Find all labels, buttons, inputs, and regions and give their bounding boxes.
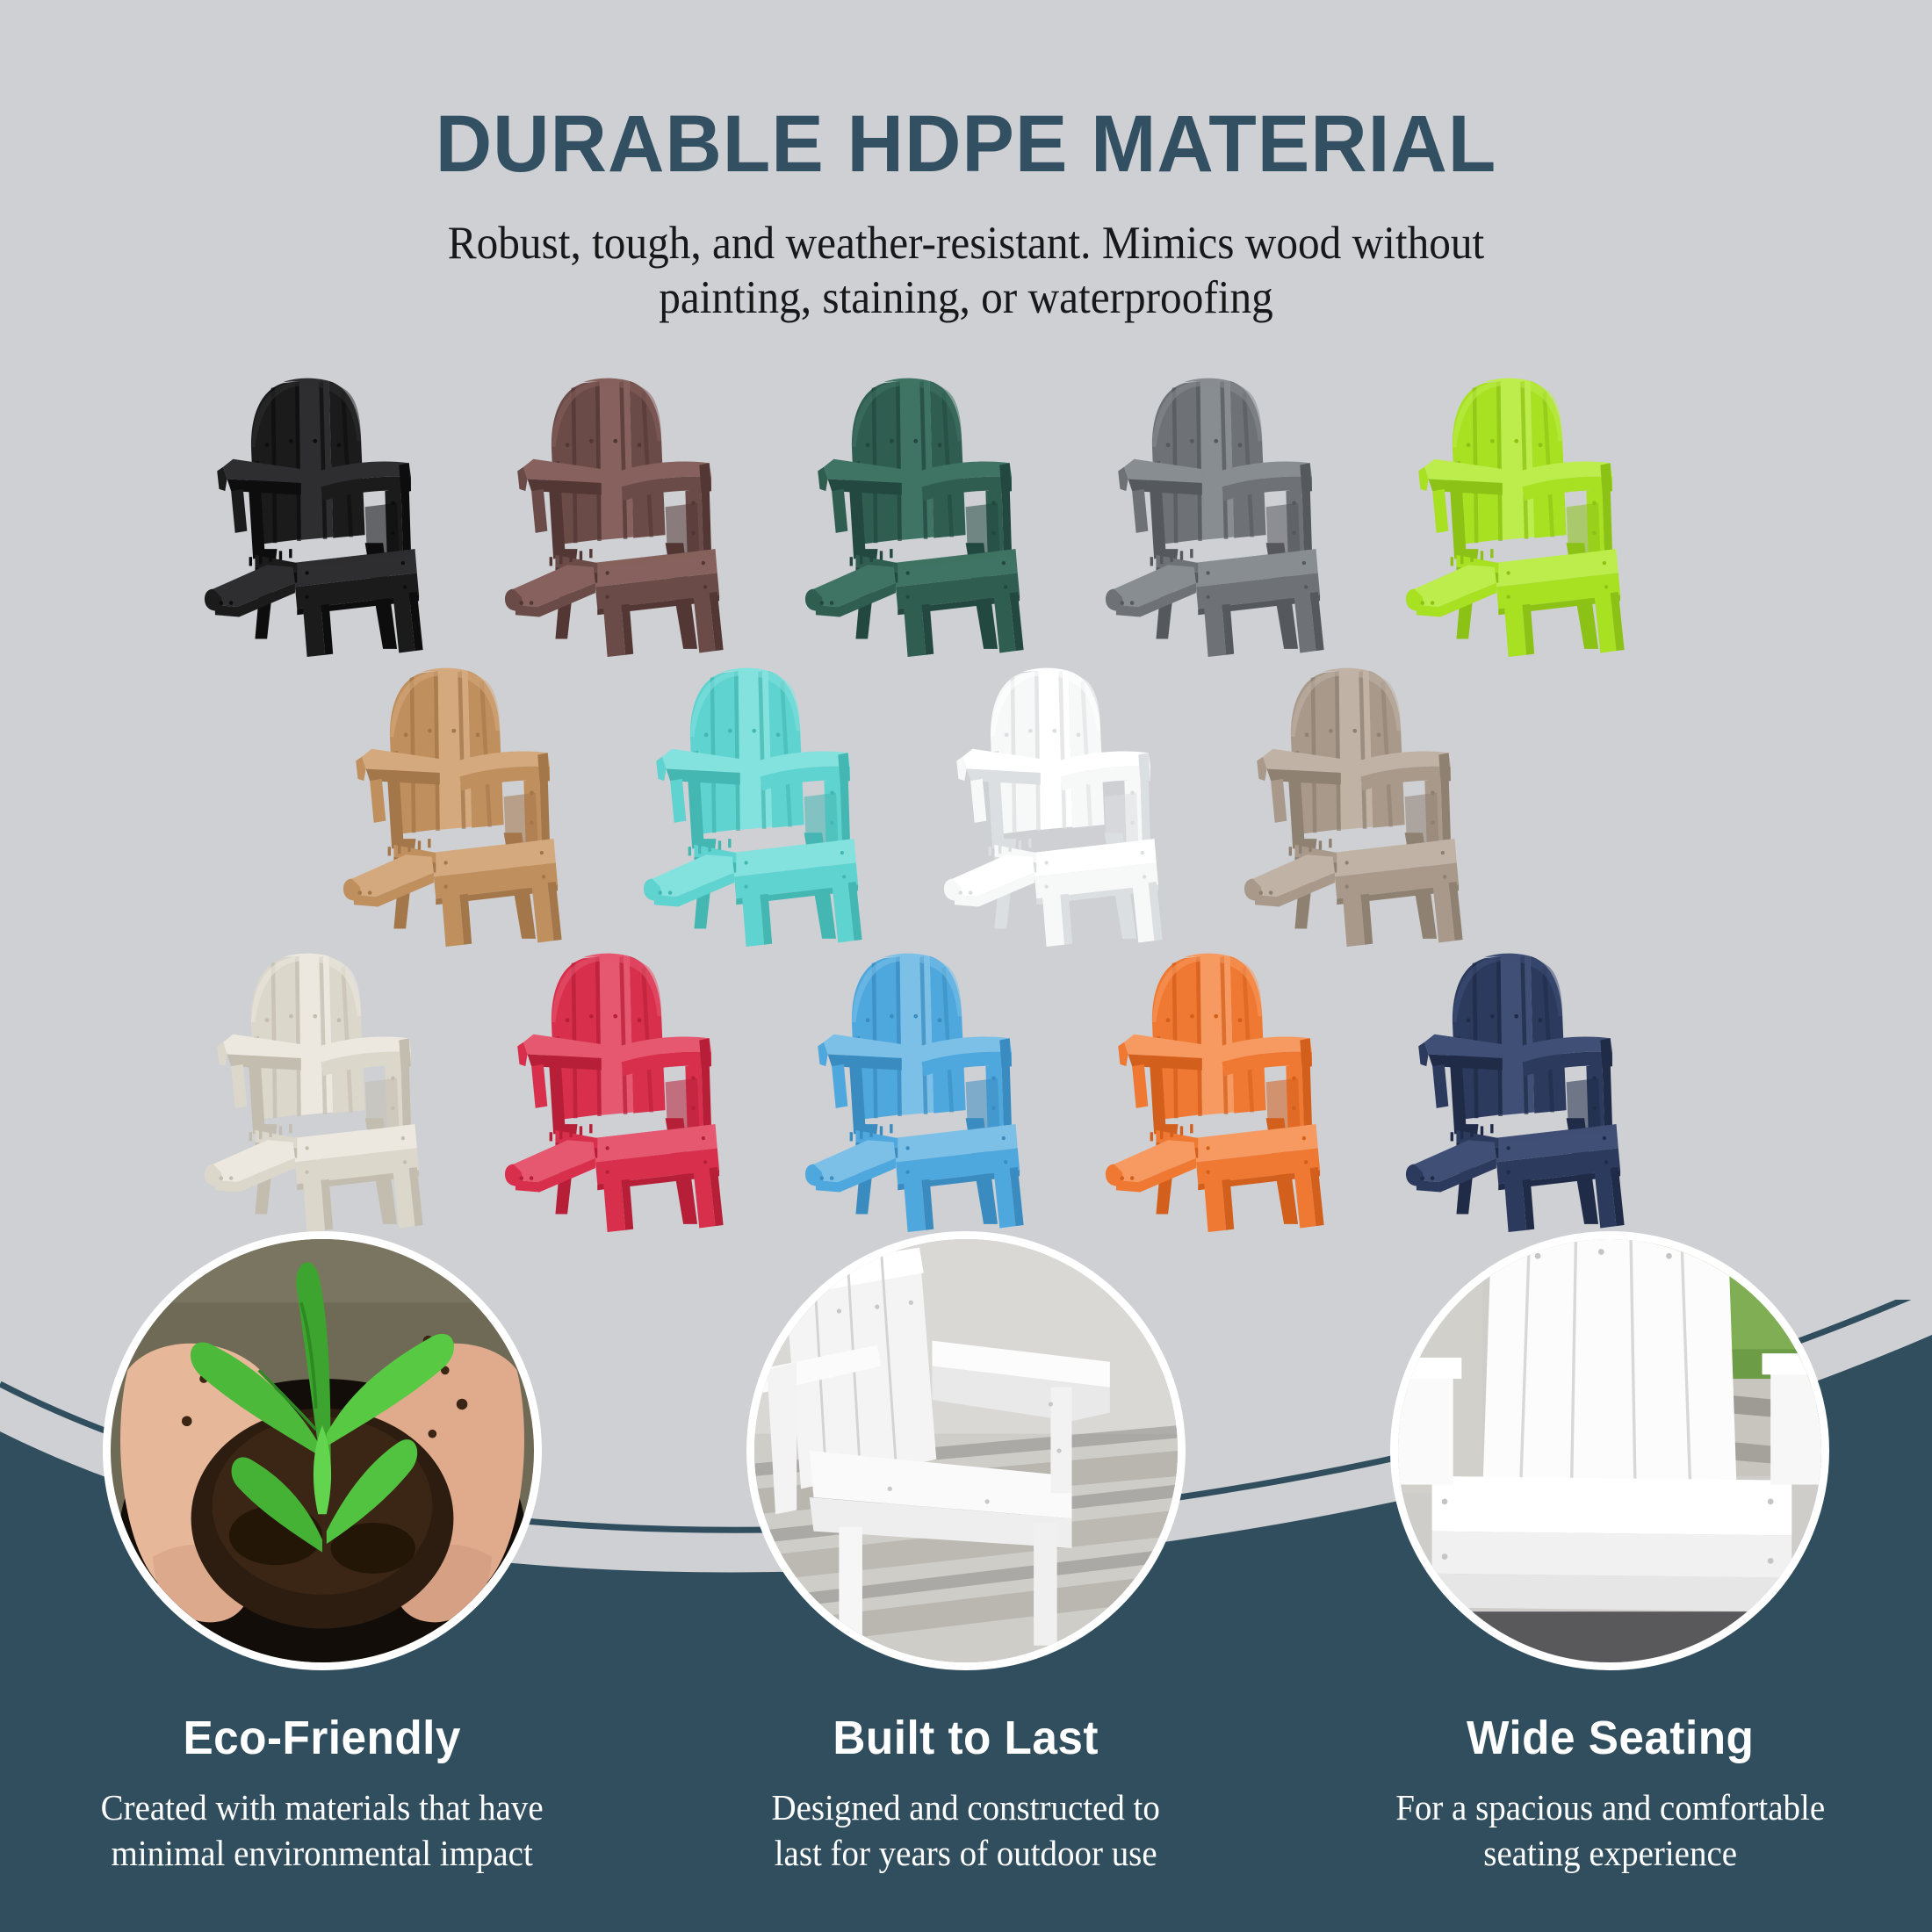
subtitle-line-1: Robust, tough, and weather-resistant. Mi…	[68, 216, 1864, 271]
chair-swatch-teak[interactable]	[306, 657, 606, 947]
chair-color-grid	[0, 367, 1932, 1298]
adirondack-chair-icon	[1207, 657, 1507, 947]
feature-wide-seating: Wide Seating For a spacious and comforta…	[1288, 1177, 1932, 1932]
adirondack-chair-icon	[1368, 367, 1669, 657]
chair-row-1	[0, 367, 1932, 657]
page-title: DURABLE HDPE MATERIAL	[29, 104, 1903, 186]
feature-desc-line-2: last for years of outdoor use	[703, 1830, 1229, 1876]
feature-desc-line-1: Created with materials that have	[60, 1784, 585, 1830]
wide-chair-seat-closeup-photo	[1390, 1231, 1829, 1670]
feature-desc-line-1: For a spacious and comfortable	[1347, 1784, 1872, 1830]
white-adirondack-chair-patio-photo	[746, 1231, 1186, 1670]
chair-swatch-brown[interactable]	[467, 367, 768, 657]
feature-description: Created with materials that have minimal…	[16, 1784, 628, 1877]
feature-title: Wide Seating	[1304, 1711, 1916, 1765]
feature-desc-line-2: minimal environmental impact	[60, 1830, 585, 1876]
hands-holding-seedling-photo	[103, 1231, 542, 1670]
adirondack-chair-icon	[768, 367, 1068, 657]
feature-eco-friendly: Eco-Friendly Created with materials that…	[0, 1177, 644, 1932]
adirondack-chair-icon	[467, 367, 768, 657]
header: DURABLE HDPE MATERIAL Robust, tough, and…	[0, 0, 1932, 326]
feature-desc-line-1: Designed and constructed to	[703, 1784, 1229, 1830]
chair-row-2	[0, 657, 1932, 947]
chair-swatch-lime-green[interactable]	[1368, 367, 1669, 657]
feature-desc-line-2: seating experience	[1347, 1830, 1872, 1876]
chair-swatch-taupe[interactable]	[1207, 657, 1507, 947]
adirondack-chair-icon	[1068, 367, 1368, 657]
chair-swatch-turquoise[interactable]	[606, 657, 906, 947]
feature-list: Eco-Friendly Created with materials that…	[0, 1177, 1932, 1932]
chair-swatch-black[interactable]	[167, 367, 467, 657]
feature-title: Built to Last	[660, 1711, 1272, 1765]
feature-description: For a spacious and comfortable seating e…	[1304, 1784, 1916, 1877]
feature-description: Designed and constructed to last for yea…	[660, 1784, 1272, 1877]
feature-title: Eco-Friendly	[16, 1711, 628, 1765]
adirondack-chair-icon	[906, 657, 1207, 947]
feature-built-to-last: Built to Last Designed and constructed t…	[644, 1177, 1287, 1932]
chair-swatch-white[interactable]	[906, 657, 1207, 947]
chair-swatch-gray[interactable]	[1068, 367, 1368, 657]
adirondack-chair-icon	[606, 657, 906, 947]
page-subtitle: Robust, tough, and weather-resistant. Mi…	[68, 216, 1864, 326]
subtitle-line-2: painting, staining, or waterproofing	[68, 270, 1864, 326]
adirondack-chair-icon	[306, 657, 606, 947]
chair-swatch-dark-green[interactable]	[768, 367, 1068, 657]
adirondack-chair-icon	[167, 367, 467, 657]
